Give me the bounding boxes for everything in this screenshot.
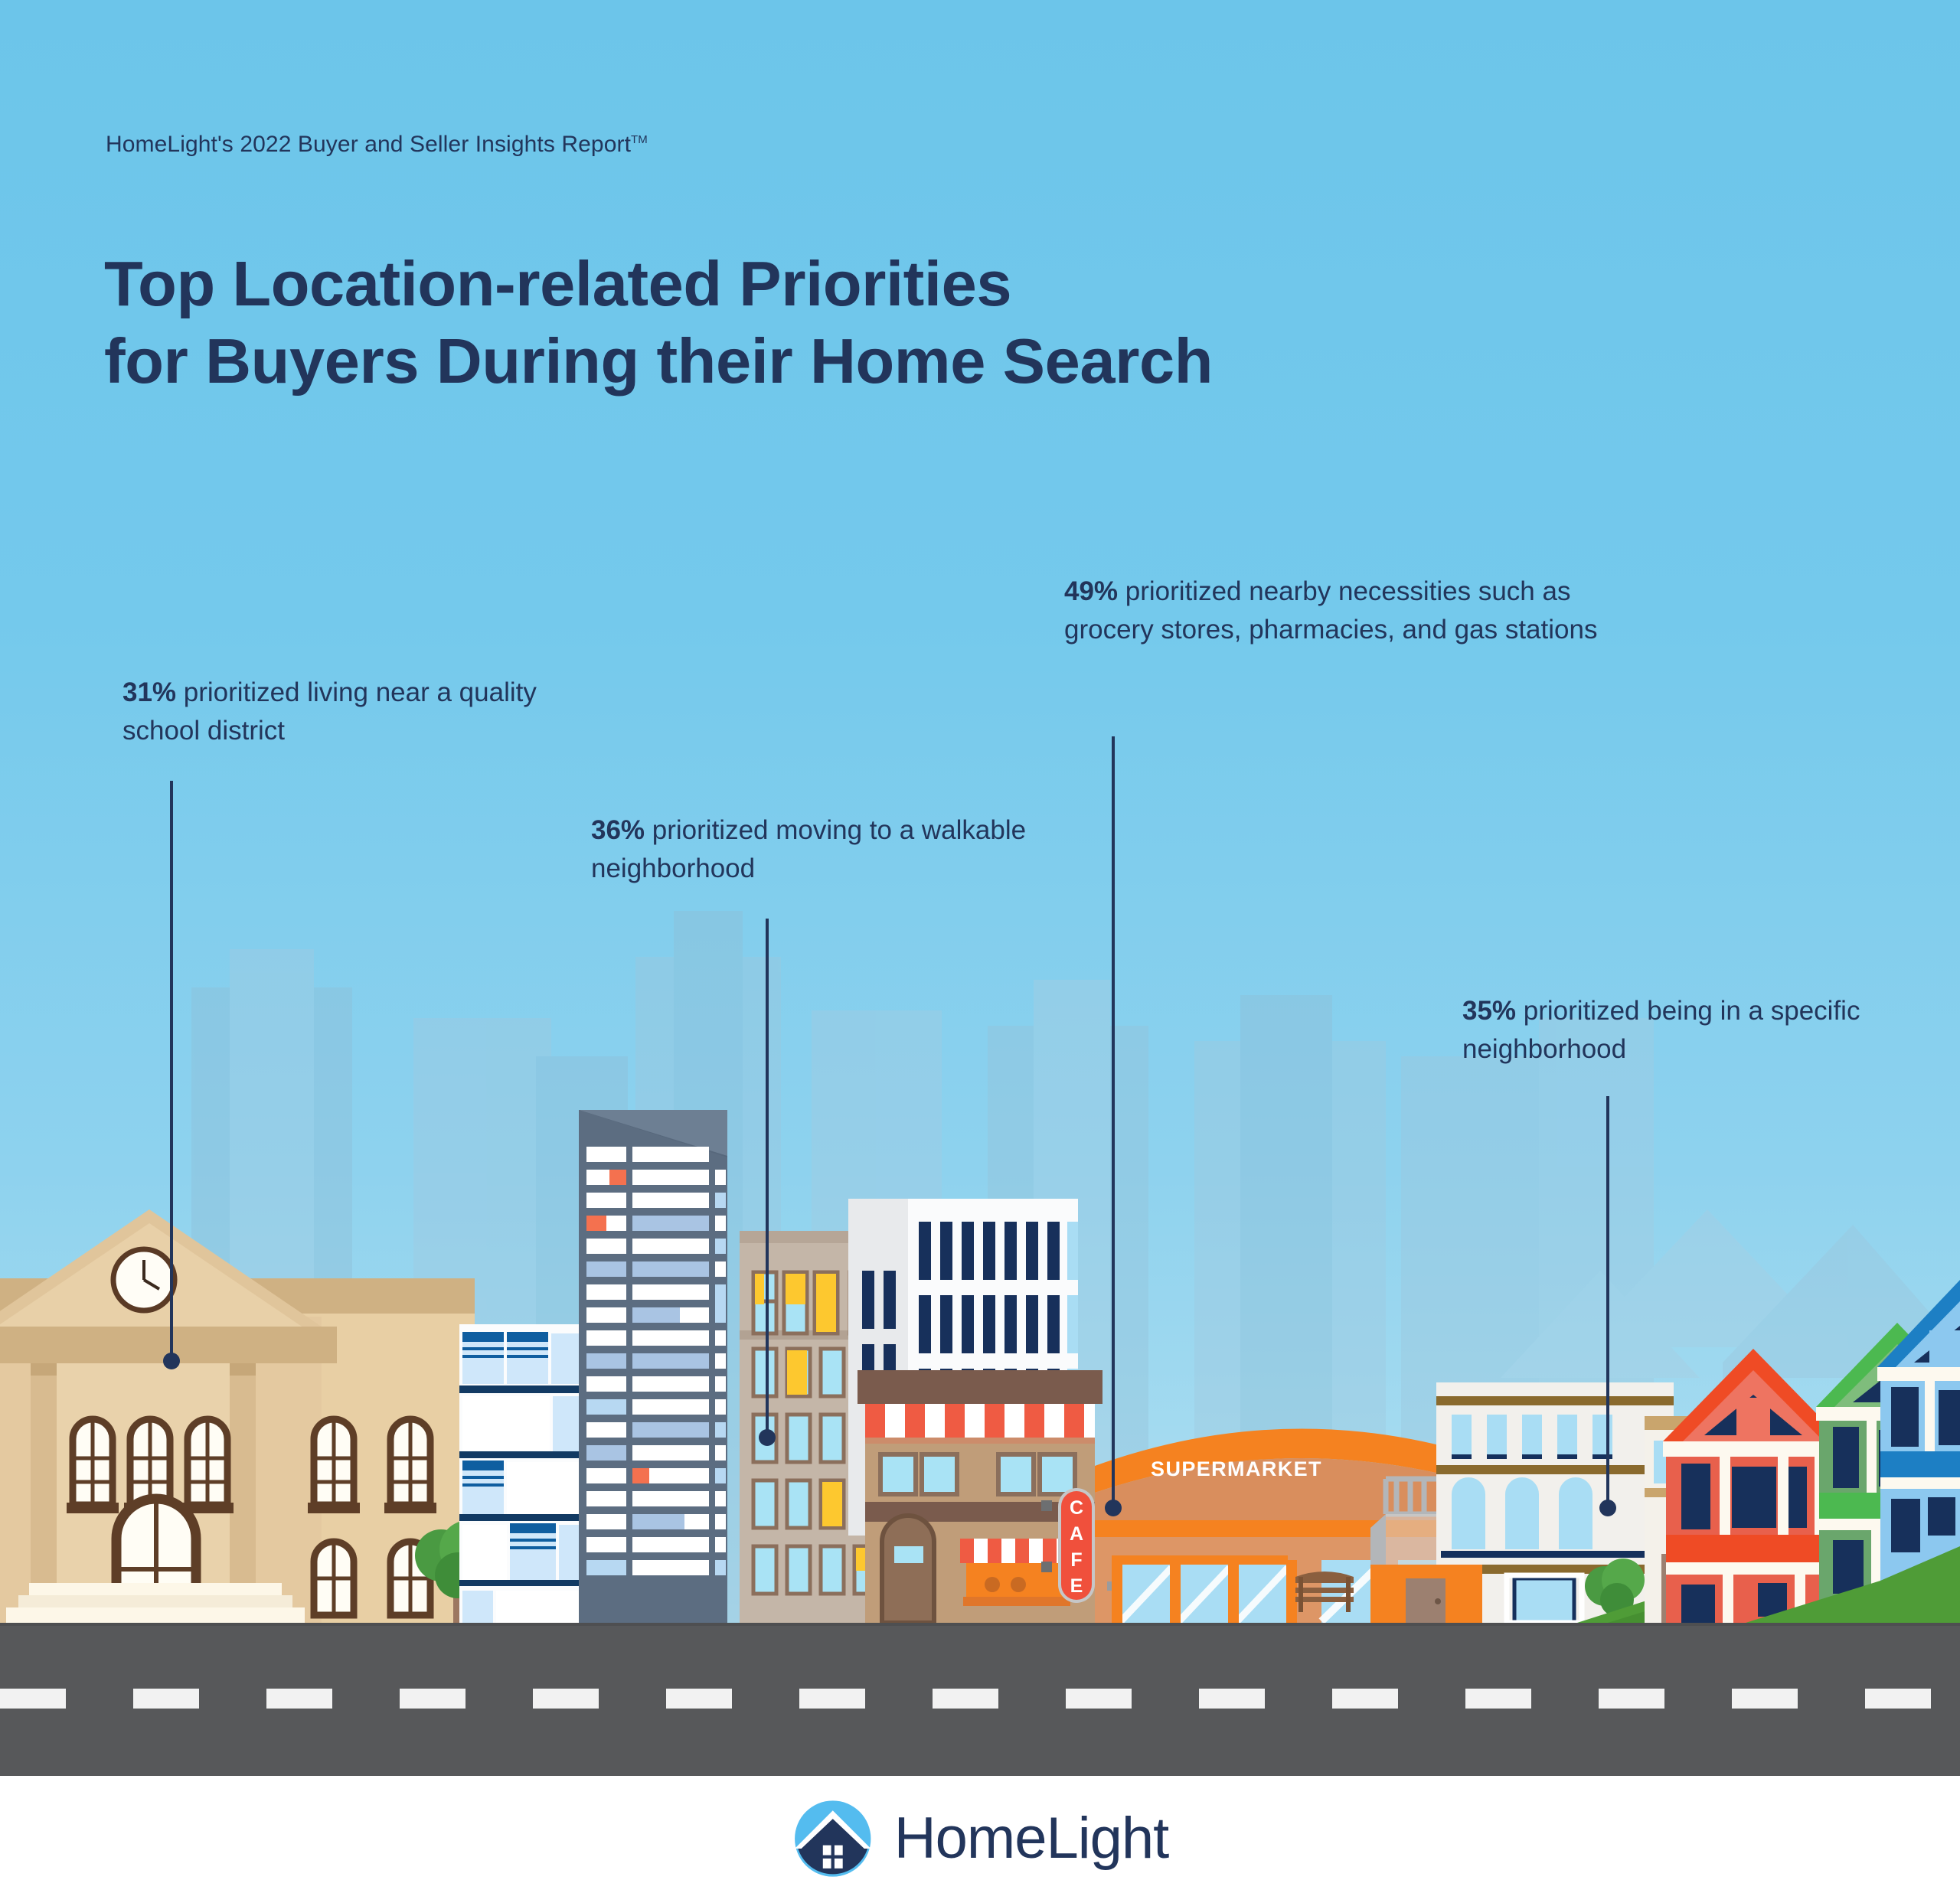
title-line-1: Top Location-related Priorities — [104, 245, 1712, 322]
road-dash — [1599, 1689, 1664, 1709]
callout-nearby-necessities: 49% prioritized nearby necessities such … — [1064, 573, 1661, 650]
report-eyebrow: HomeLight's 2022 Buyer and Seller Insigh… — [106, 132, 648, 158]
road-dash — [1332, 1689, 1398, 1709]
road-dash — [1066, 1689, 1132, 1709]
svg-text:E: E — [1070, 1575, 1083, 1597]
road-dash — [0, 1689, 66, 1709]
road-dash — [133, 1689, 199, 1709]
road-dash — [933, 1689, 998, 1709]
fruit-stand — [960, 1539, 1070, 1606]
road-dashes — [0, 1689, 1960, 1709]
road-dash — [1865, 1689, 1931, 1709]
leader-line-walkable-neighborhood — [766, 919, 769, 1439]
leader-line-school-district — [170, 781, 173, 1363]
road-dash — [1732, 1689, 1798, 1709]
svg-text:F: F — [1070, 1549, 1082, 1571]
road — [0, 1623, 1960, 1776]
callout-walkable-neighborhood: 36% prioritized moving to a walkable nei… — [591, 811, 1066, 889]
road-dash — [266, 1689, 332, 1709]
supermarket-label: SUPERMARKET — [1151, 1457, 1322, 1480]
callout-school-district: 31% prioritized living near a quality sc… — [122, 674, 582, 751]
trademark-symbol: TM — [631, 133, 648, 146]
svg-text:A: A — [1070, 1523, 1083, 1545]
callout-specific-neighborhood: 35% prioritized being in a specific neig… — [1462, 992, 1937, 1069]
road-dash — [1465, 1689, 1531, 1709]
svg-text:C: C — [1070, 1497, 1083, 1519]
office-tower — [579, 1110, 727, 1623]
homelight-wordmark: HomeLight — [894, 1810, 1169, 1868]
title-line-2: for Buyers During their Home Search — [104, 322, 1712, 400]
road-dash — [533, 1689, 599, 1709]
road-dash — [400, 1689, 465, 1709]
callout-percent-walkable-neighborhood: 36% — [591, 815, 645, 845]
road-dash — [1199, 1689, 1265, 1709]
homelight-house-icon — [792, 1797, 874, 1880]
leader-line-nearby-necessities — [1112, 736, 1115, 1510]
victorian-house-red — [1663, 1349, 1844, 1623]
page-title: Top Location-related Priorities for Buye… — [104, 245, 1712, 400]
leader-line-specific-neighborhood — [1606, 1096, 1609, 1510]
homelight-logo[interactable]: HomeLight — [792, 1797, 1169, 1880]
road-dash — [666, 1689, 732, 1709]
callout-percent-school-district: 31% — [122, 677, 176, 707]
road-dash — [799, 1689, 865, 1709]
callout-text-school-district: prioritized living near a quality school… — [122, 677, 537, 746]
eyebrow-text: HomeLight's 2022 Buyer and Seller Insigh… — [106, 132, 631, 157]
modern-glass-building — [459, 1324, 582, 1623]
infographic-page: C A F E SUPERMARKET — [0, 0, 1960, 1893]
road-edge — [0, 1623, 1960, 1626]
callout-percent-nearby-necessities: 49% — [1064, 576, 1118, 606]
callout-text-walkable-neighborhood: prioritized moving to a walkable neighbo… — [591, 815, 1026, 883]
callout-text-specific-neighborhood: prioritized being in a specific neighbor… — [1462, 996, 1860, 1064]
callout-text-nearby-necessities: prioritized nearby necessities such as g… — [1064, 576, 1597, 645]
callout-percent-specific-neighborhood: 35% — [1462, 996, 1516, 1026]
